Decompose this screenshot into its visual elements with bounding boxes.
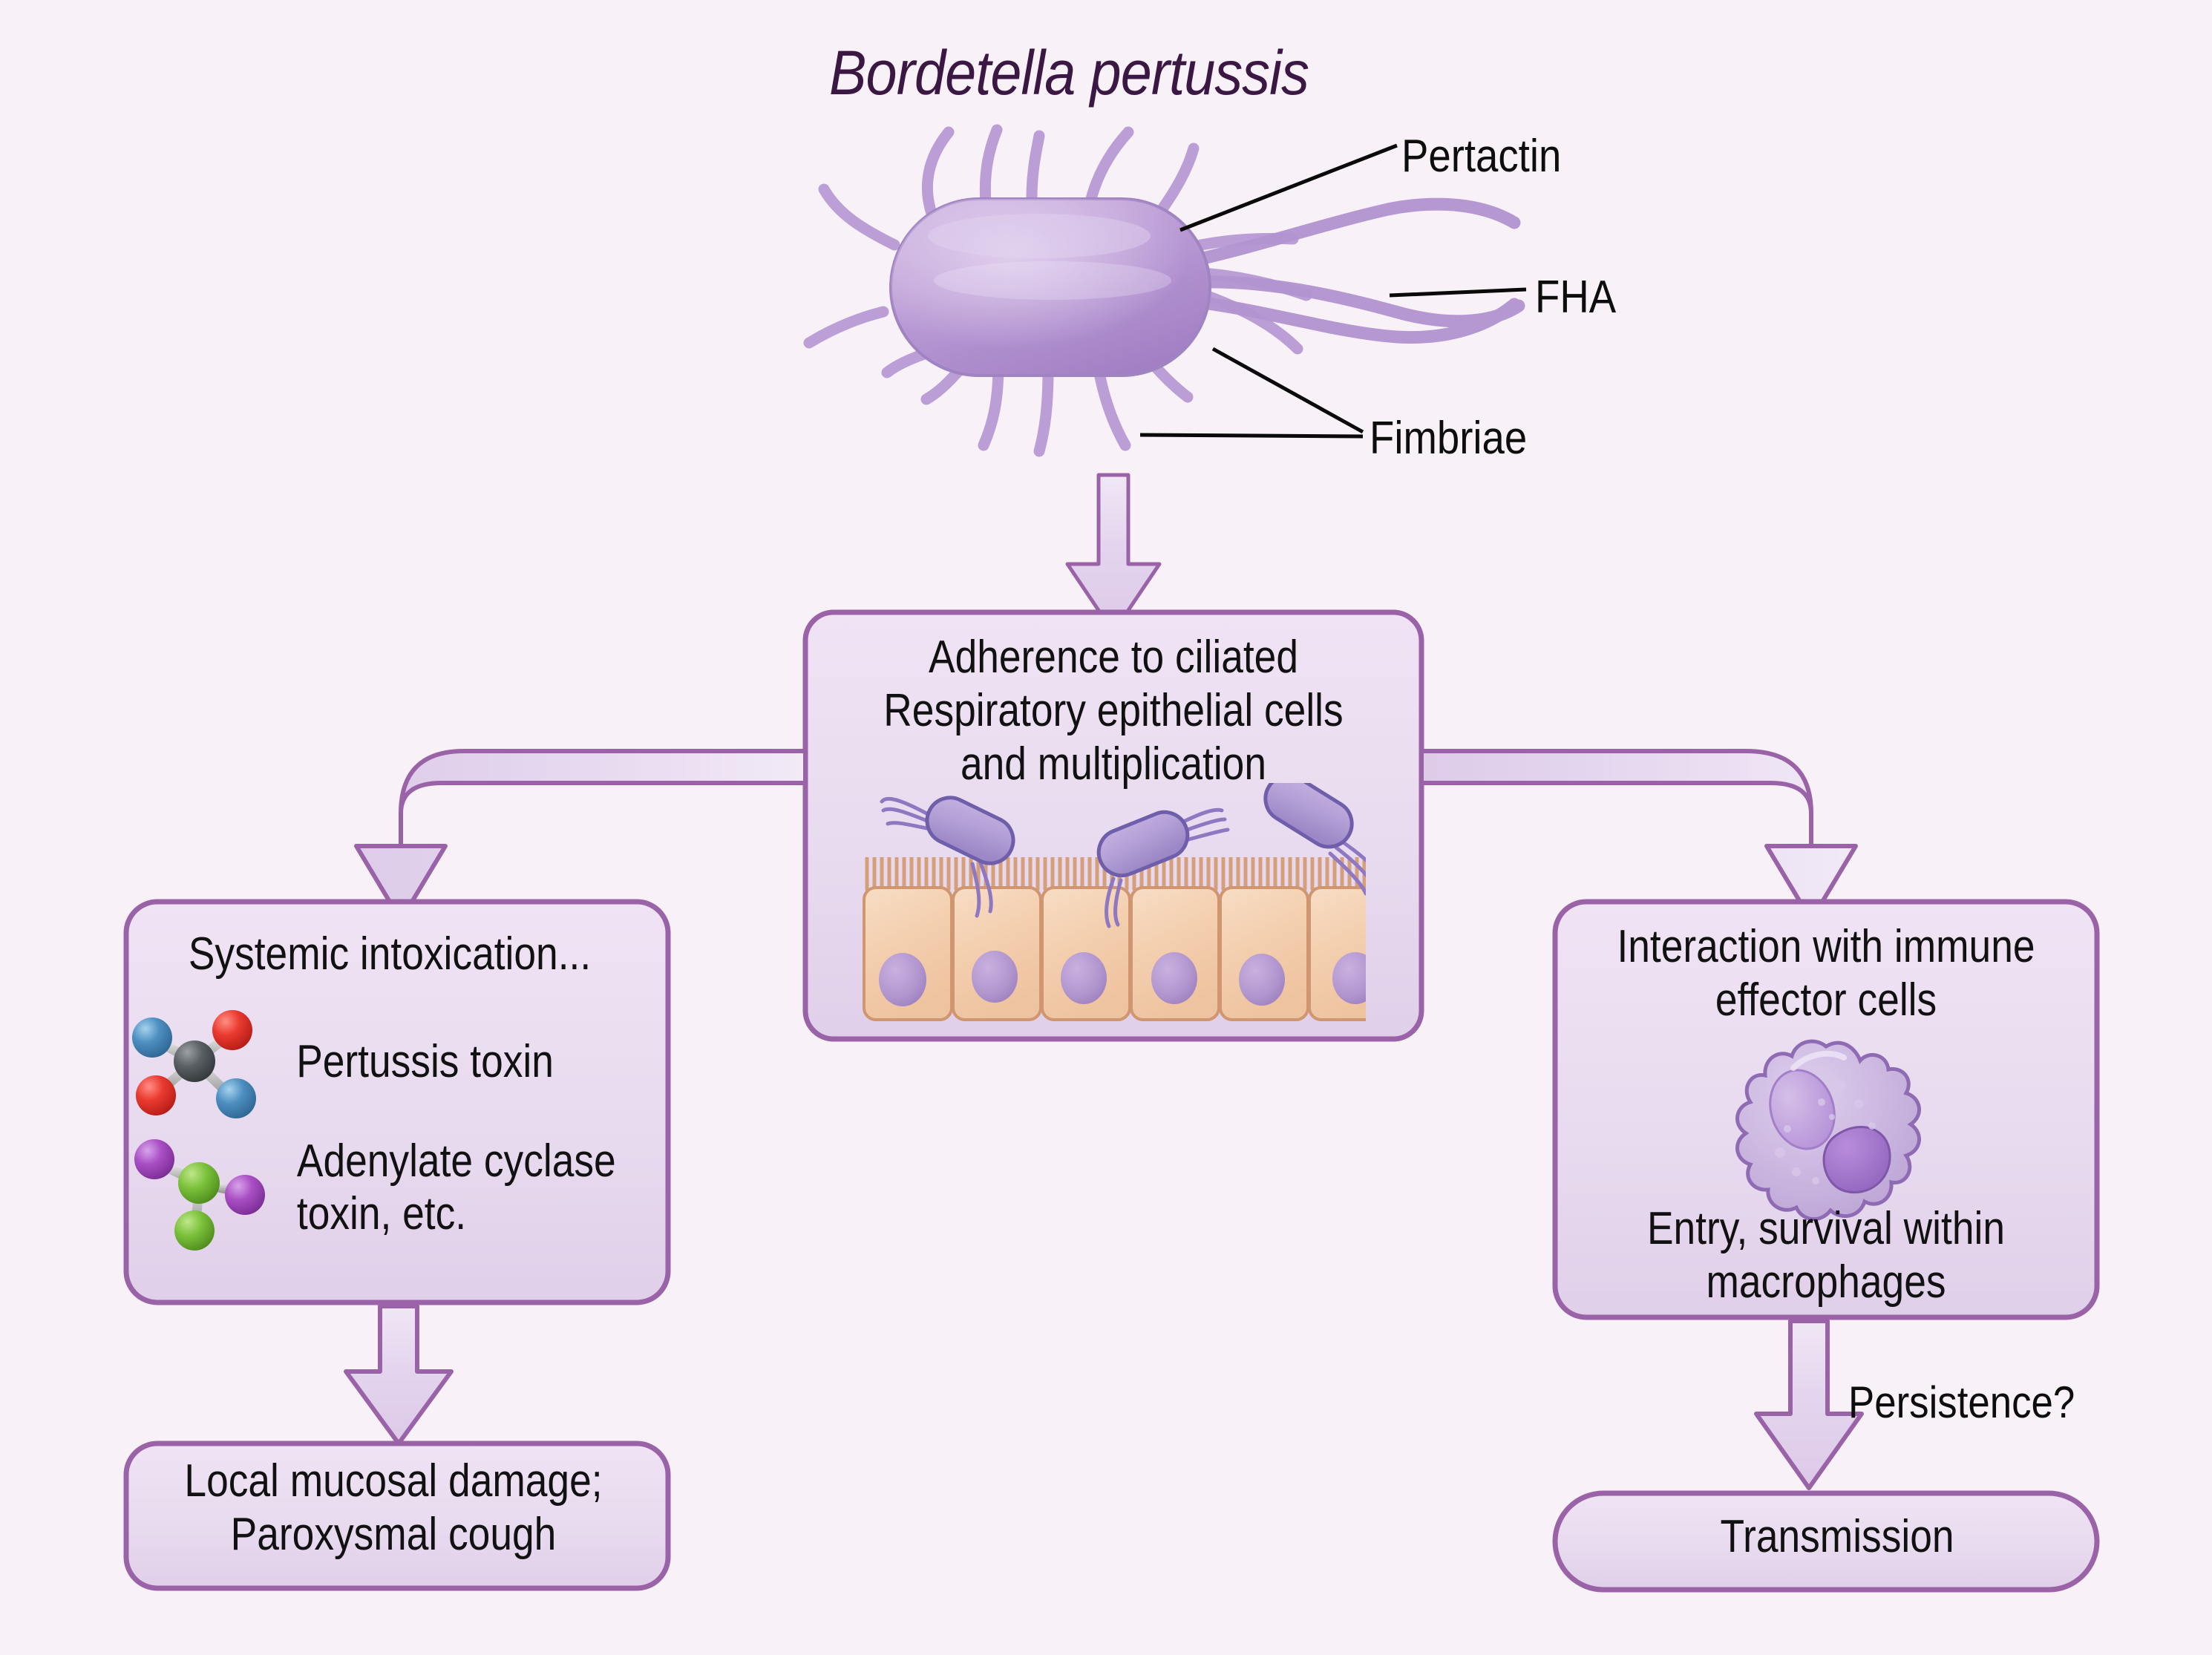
callout-label-fimbriae: Fimbriae xyxy=(1370,412,1527,465)
node-immune-heading: Interaction with immune effector cells xyxy=(1603,920,2049,1027)
arrow-adherence-to-intoxication xyxy=(356,751,805,920)
arrow-intoxication-to-mucosal xyxy=(346,1306,451,1443)
node-immune-subtext: Entry, survival within macrophages xyxy=(1603,1202,2049,1309)
arrow-immune-to-transmission xyxy=(1756,1321,1862,1488)
node-adherence-heading: Adherence to ciliated Respiratory epithe… xyxy=(858,631,1369,791)
arrow-adherence-to-immune xyxy=(1421,751,1856,920)
node-mucosal-damage-text: Local mucosal damage; Paroxysmal cough xyxy=(167,1455,621,1561)
callout-label-pertactin: Pertactin xyxy=(1401,130,1561,183)
callout-label-fha: FHA xyxy=(1535,271,1616,324)
node-intoxication-heading: Systemic intoxication... xyxy=(166,928,613,981)
node-transmission-text: Transmission xyxy=(1604,1510,2070,1564)
toxin-label-adenylate-cyclase-toxin: Adenylate cyclase toxin, etc. xyxy=(297,1135,661,1240)
arrow-bacterium-to-adherence xyxy=(1067,475,1159,632)
figure-canvas: Bordetella pertussis Pertactin FHA Fimbr… xyxy=(0,0,2212,1655)
page-title: Bordetella pertussis xyxy=(762,37,1376,109)
edge-label-persistence: Persistence? xyxy=(1848,1377,2075,1428)
diagram-stage: Bordetella pertussis Pertactin FHA Fimbr… xyxy=(0,0,2212,1655)
toxin-label-pertussis-toxin: Pertussis toxin xyxy=(296,1035,654,1089)
